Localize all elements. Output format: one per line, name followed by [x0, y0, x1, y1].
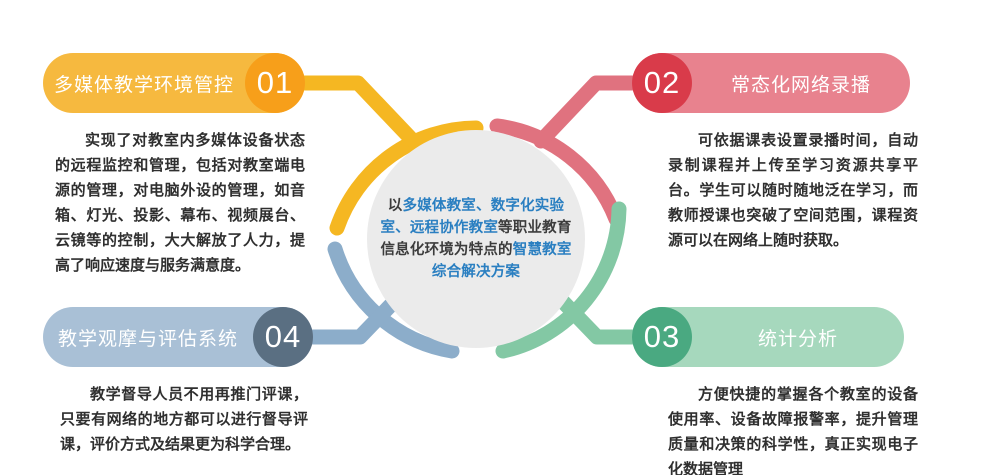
center-hub-text: 以多媒体教室、数字化实验室、远程协作教室等职业教育信息化环境为特点的智慧教室综合… [378, 195, 574, 283]
pill-title-01: 多媒体教学环境管控 [43, 70, 245, 97]
connector-01 [290, 83, 417, 145]
pill-number-03: 03 [632, 307, 692, 367]
pill-number-01: 01 [245, 53, 305, 113]
pill-header-02[interactable]: 02 常态化网络录播 [632, 53, 910, 113]
pill-title-02: 常态化网络录播 [692, 70, 910, 97]
paragraph-03: 方便快捷的掌握各个教室的设备使用率、设备故障报警率，提升管理质量和决策的科学性，… [668, 382, 918, 475]
pill-number-02: 02 [632, 53, 692, 113]
paragraph-04: 教学督导人员不用再推门评课，只要有网络的地方都可以进行督导评课，评价方式及结果更… [60, 382, 308, 457]
hub-text-segment-0: 以 [388, 198, 403, 214]
pill-header-01[interactable]: 多媒体教学环境管控 01 [43, 53, 305, 113]
pill-title-04: 教学观摩与评估系统 [43, 324, 253, 351]
pill-header-04[interactable]: 教学观摩与评估系统 04 [43, 307, 313, 367]
infographic-canvas: 以多媒体教室、数字化实验室、远程协作教室等职业教育信息化环境为特点的智慧教室综合… [0, 0, 984, 475]
pill-header-03[interactable]: 03 统计分析 [632, 307, 904, 367]
pill-title-03: 统计分析 [692, 324, 904, 351]
pill-number-04: 04 [253, 307, 313, 367]
paragraph-02: 可依据课表设置录播时间，自动录制课程并上传至学习资源共享平台。学生可以随时随地泛… [668, 128, 918, 253]
paragraph-01: 实现了对教室内多媒体设备状态的远程监控和管理，包括对教室端电源的管理，对电脑外设… [55, 128, 305, 278]
center-hub: 以多媒体教室、数字化实验室、远程协作教室等职业教育信息化环境为特点的智慧教室综合… [367, 130, 585, 348]
